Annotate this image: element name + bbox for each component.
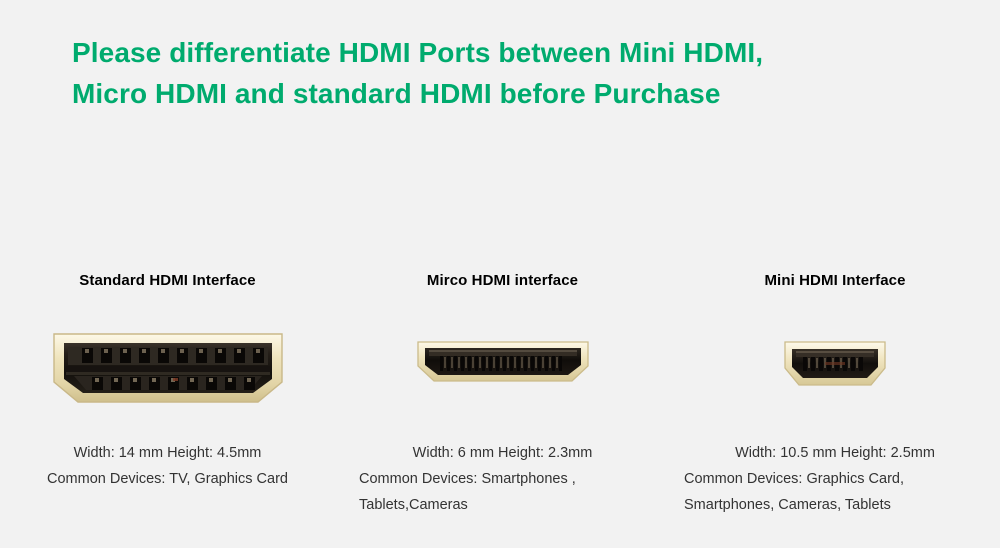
port-stage-mini [670,332,1000,407]
page-headline: Please differentiate HDMI Ports between … [72,32,952,114]
standard-port-shelf-highlight [66,372,270,375]
dimensions-standard: Width: 14 mm Height: 4.5mm [0,440,335,466]
devices-standard-line1: Common Devices: TV, Graphics Card [0,466,335,492]
hdmi-comparison-row: Standard HDMI Interface [0,262,1000,548]
standard-hdmi-port-icon [52,332,284,408]
captions-micro: Width: 6 mm Height: 2.3mm Common Devices… [335,440,670,518]
captions-mini: Width: 10.5 mm Height: 2.5mm Common Devi… [670,440,1000,518]
dimensions-mini: Width: 10.5 mm Height: 2.5mm [670,440,1000,466]
column-standard-hdmi: Standard HDMI Interface [0,262,335,548]
devices-micro-line1: Common Devices: Smartphones , [335,466,670,492]
headline-line-1: Please differentiate HDMI Ports between … [72,32,952,73]
column-mini-hdmi: Mini HDMI Interface [670,262,1000,548]
port-stage-micro [335,332,670,407]
column-title-standard: Standard HDMI Interface [0,272,335,289]
micro-hdmi-port-icon [416,340,590,384]
dimensions-micro: Width: 6 mm Height: 2.3mm [335,440,670,466]
column-title-mini: Mini HDMI Interface [670,272,1000,289]
column-title-micro: Mirco HDMI interface [335,272,670,289]
mini-port-contact-bar-highlight [796,351,874,353]
devices-mini-line2: Smartphones, Cameras, Tablets [670,492,1000,518]
devices-mini-line1: Common Devices: Graphics Card, [670,466,1000,492]
standard-port-middle-shelf [66,366,270,373]
captions-standard: Width: 14 mm Height: 4.5mm Common Device… [0,440,335,492]
devices-micro-line2: Tablets,Cameras [335,492,670,518]
mini-port-cavity-reflection [825,362,845,365]
headline-line-2: Micro HDMI and standard HDMI before Purc… [72,73,952,114]
column-micro-hdmi: Mirco HDMI interface [335,262,670,548]
port-stage-standard [0,332,335,407]
mini-hdmi-port-icon [783,340,887,388]
standard-port-pin-accent [173,378,178,381]
micro-port-contact-bar-highlight [429,350,577,352]
